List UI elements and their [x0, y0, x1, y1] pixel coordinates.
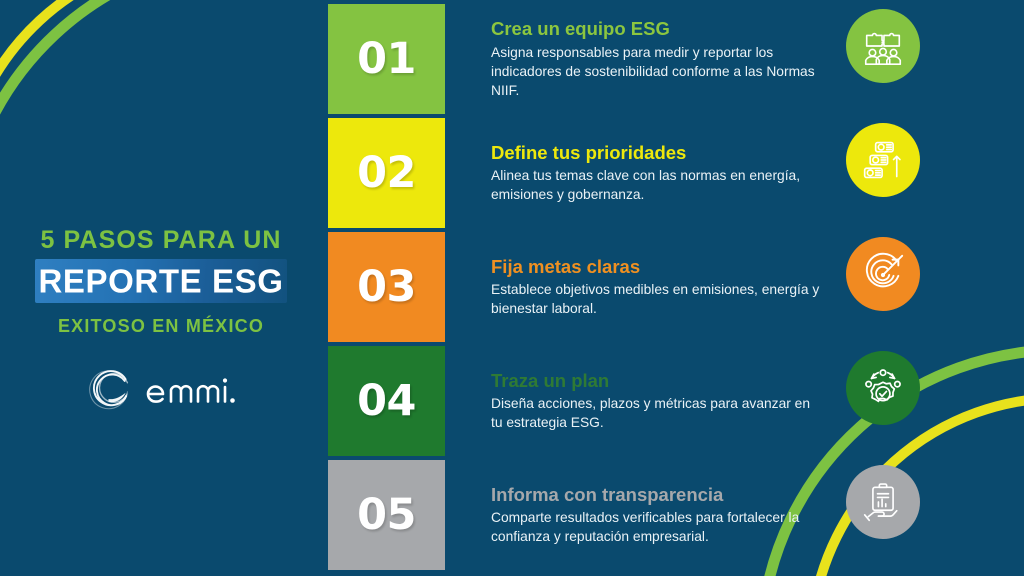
- steps-list: 01 Crea un equipo ESG Asigna responsable…: [0, 0, 1024, 576]
- step-text-04: Traza un plan Diseña acciones, plazos y …: [491, 346, 821, 456]
- step-icon-badge-02: [846, 123, 920, 197]
- step-body-01: Asigna responsables para medir y reporta…: [491, 43, 821, 100]
- step-icon-badge-05: [846, 465, 920, 539]
- step-row-05: 05 Informa con transparencia Comparte re…: [328, 460, 1024, 570]
- step-row-03: 03 Fija metas claras Establece objetivos…: [328, 232, 1024, 342]
- step-row-01: 01 Crea un equipo ESG Asigna responsable…: [328, 4, 1024, 114]
- step-text-03: Fija metas claras Establece objetivos me…: [491, 232, 821, 342]
- team-puzzle-icon: [860, 23, 906, 69]
- step-text-05: Informa con transparencia Comparte resul…: [491, 460, 821, 570]
- step-number-block-04: 04: [328, 346, 445, 456]
- step-heading-05: Informa con transparencia: [491, 484, 821, 505]
- target-dart-icon: [860, 251, 906, 297]
- step-icon-badge-01: [846, 9, 920, 83]
- gear-check-process-icon: [860, 365, 906, 411]
- step-text-01: Crea un equipo ESG Asigna responsables p…: [491, 4, 821, 114]
- step-row-04: 04 Traza un plan Diseña acciones, plazos…: [328, 346, 1024, 456]
- step-body-02: Alinea tus temas clave con las normas en…: [491, 166, 821, 204]
- step-number-02: 02: [357, 152, 416, 195]
- step-number-05: 05: [357, 494, 416, 537]
- step-number-04: 04: [357, 380, 416, 423]
- step-heading-03: Fija metas claras: [491, 256, 821, 277]
- step-body-03: Establece objetivos medibles en emisione…: [491, 280, 821, 318]
- numbered-priority-list-icon: [861, 138, 905, 182]
- step-number-block-01: 01: [328, 4, 445, 114]
- step-number-03: 03: [357, 266, 416, 309]
- step-row-02: 02 Define tus prioridades Alinea tus tem…: [328, 118, 1024, 228]
- step-icon-badge-04: [846, 351, 920, 425]
- step-icon-badge-03: [846, 237, 920, 311]
- step-number-block-05: 05: [328, 460, 445, 570]
- hand-clipboard-report-icon: [861, 480, 905, 524]
- step-number-01: 01: [357, 38, 416, 81]
- step-body-04: Diseña acciones, plazos y métricas para …: [491, 394, 821, 432]
- step-heading-02: Define tus prioridades: [491, 142, 821, 163]
- step-number-block-03: 03: [328, 232, 445, 342]
- infographic-canvas: 5 PASOS PARA UN REPORTE ESG EXITOSO EN M…: [0, 0, 1024, 576]
- step-text-02: Define tus prioridades Alinea tus temas …: [491, 118, 821, 228]
- step-heading-04: Traza un plan: [491, 370, 821, 391]
- step-number-block-02: 02: [328, 118, 445, 228]
- step-heading-01: Crea un equipo ESG: [491, 18, 821, 39]
- step-body-05: Comparte resultados verificables para fo…: [491, 508, 821, 546]
